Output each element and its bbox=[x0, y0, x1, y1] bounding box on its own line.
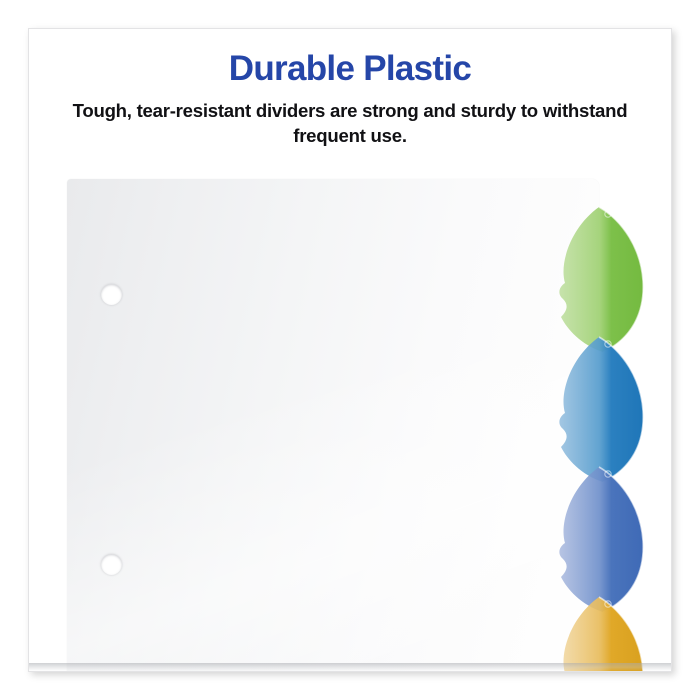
tab-blue[interactable] bbox=[537, 335, 657, 485]
page-subtitle: Tough, tear-resistant dividers are stron… bbox=[57, 98, 643, 149]
headline-block: Durable Plastic Tough, tear-resistant di… bbox=[29, 49, 671, 149]
punch-hole-bottom bbox=[101, 554, 122, 575]
tab-green-shape bbox=[537, 205, 657, 355]
tab-green[interactable] bbox=[537, 205, 657, 355]
page-title: Durable Plastic bbox=[29, 49, 671, 88]
tab-indigo[interactable] bbox=[537, 465, 657, 615]
tab-indigo-shape bbox=[537, 465, 657, 615]
tab-gold-shape bbox=[537, 595, 657, 672]
image-bottom-crop-band bbox=[29, 663, 671, 671]
product-image-canvas: Durable Plastic Tough, tear-resistant di… bbox=[0, 0, 700, 700]
punch-hole-top bbox=[101, 284, 122, 305]
tab-gold[interactable] bbox=[537, 595, 657, 672]
divider-sheet bbox=[67, 179, 599, 672]
product-card-frame: Durable Plastic Tough, tear-resistant di… bbox=[28, 28, 672, 672]
tab-blue-shape bbox=[537, 335, 657, 485]
